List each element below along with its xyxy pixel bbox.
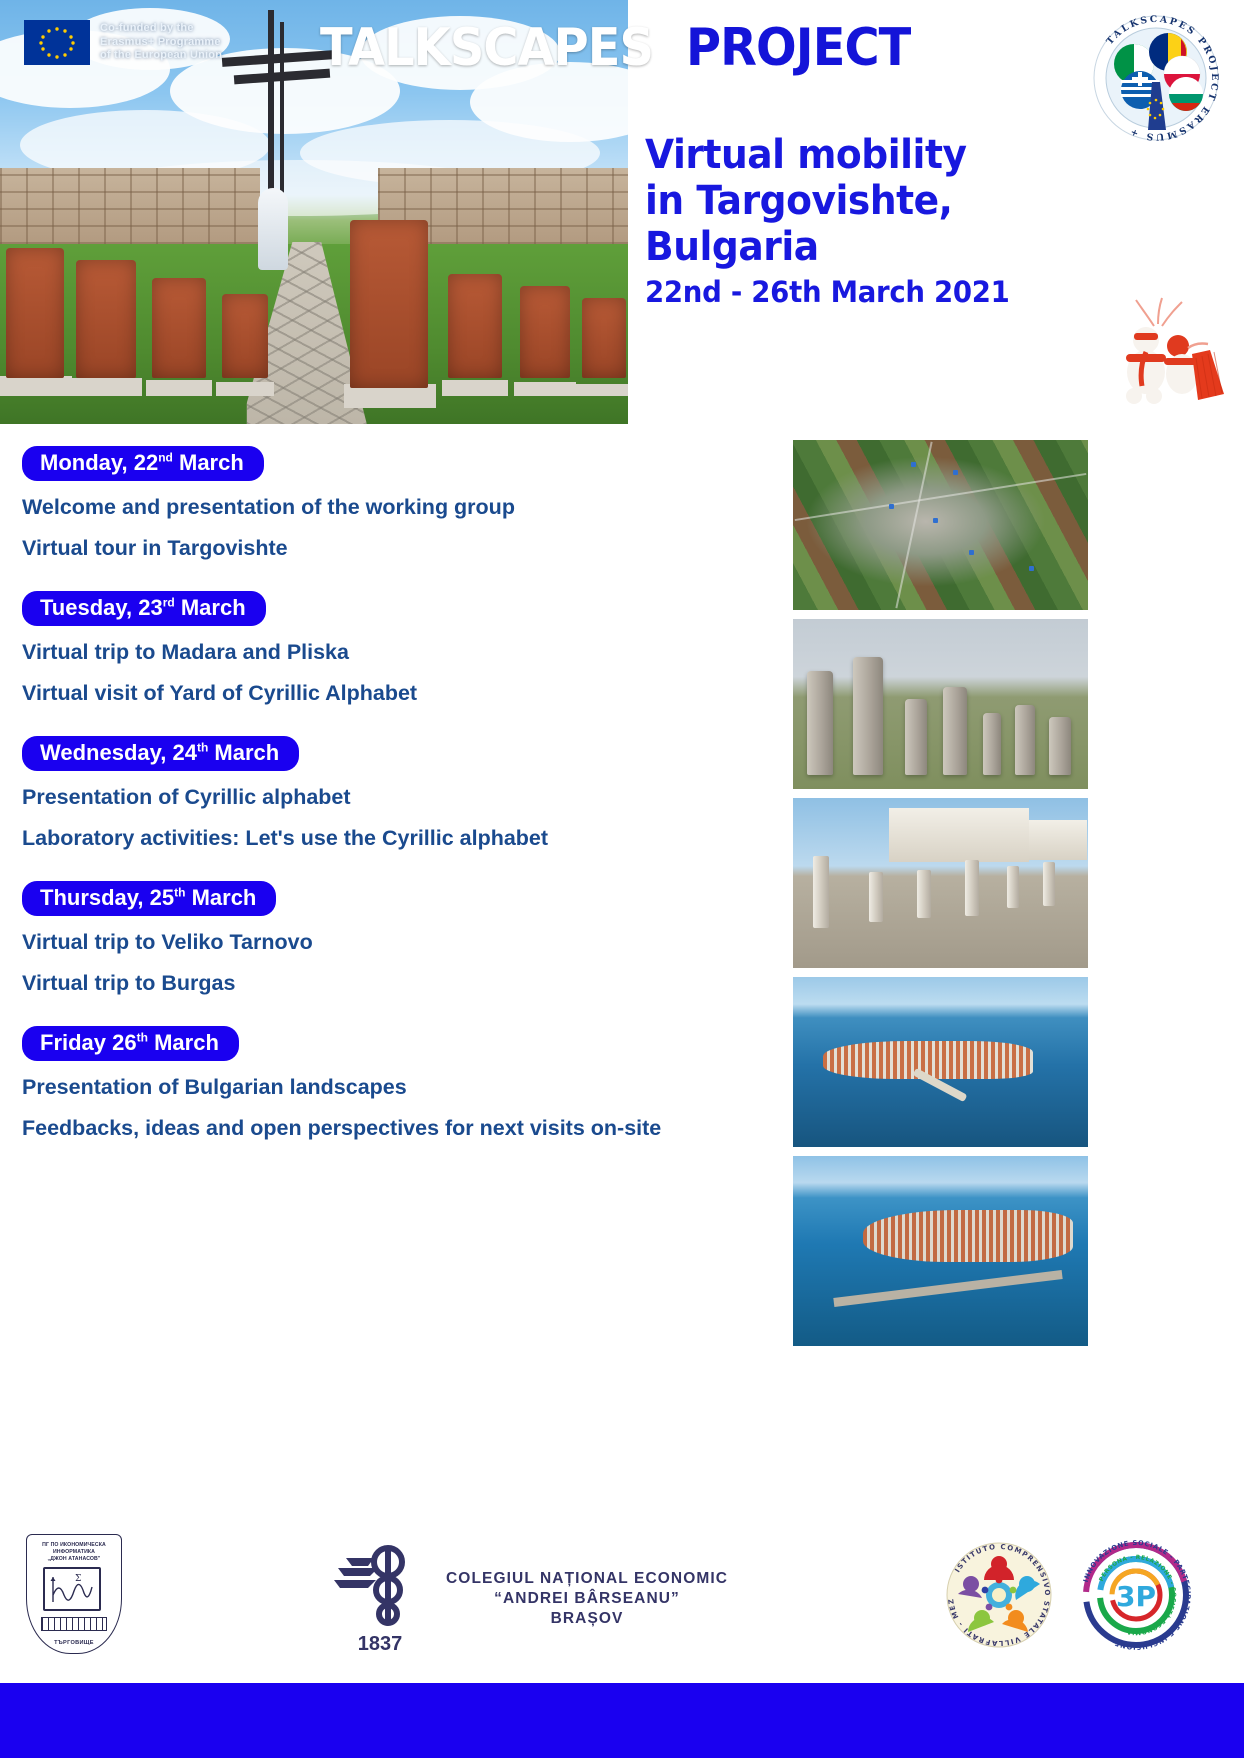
bottom-color-bar bbox=[0, 1683, 1244, 1758]
talkscapes-project-erasmus-logo: TALKSCAPES PROJECT ERASMUS + bbox=[1086, 8, 1226, 148]
tre-p-innovazione-sociale-logo: 3P INNOVAZIONE SOCIALE - PARTECIPAZIONE … bbox=[1076, 1536, 1196, 1659]
day-items-wednesday: Presentation of Cyrillic alphabet Labora… bbox=[22, 787, 790, 849]
day-pill-friday[interactable]: Friday 26th March bbox=[22, 1026, 239, 1061]
day-block-tuesday: Tuesday, 23rd March Virtual trip to Mada… bbox=[0, 591, 790, 704]
event-dates: 22nd - 26th March 2021 bbox=[645, 272, 1010, 312]
poster-header: Co-funded by the Erasmus+ Programme of t… bbox=[0, 0, 1244, 424]
day-ordinal-tuesday: rd bbox=[163, 596, 175, 610]
crest-line-1: ПГ ПО ИКОНОМИЧЕСКА bbox=[27, 1542, 121, 1549]
heading-line-3: Bulgaria bbox=[645, 224, 1006, 270]
aerial-satellite-view-targovishte bbox=[793, 440, 1088, 610]
poster-title: TALKSCAPES PROJECT bbox=[320, 18, 930, 78]
svg-text:3P: 3P bbox=[1116, 1580, 1156, 1613]
colegiul-national-economic-logo: 1837 COLEGIUL NAȚIONAL ECONOMIC “ANDREI … bbox=[330, 1542, 728, 1656]
day-block-wednesday: Wednesday, 24th March Presentation of Cy… bbox=[0, 736, 790, 849]
day-pill-monday[interactable]: Monday, 22nd March bbox=[22, 446, 264, 481]
list-item: Virtual trip to Madara and Pliska bbox=[22, 642, 790, 664]
day-number-friday: 26 bbox=[112, 1030, 136, 1055]
title-talkscapes: TALKSCAPES bbox=[320, 18, 653, 78]
crest-line-3: „ДЖОН АТАНАСОВ" bbox=[27, 1556, 121, 1563]
day-items-friday: Presentation of Bulgarian landscapes Fee… bbox=[22, 1077, 790, 1139]
list-item: Virtual visit of Yard of Cyrillic Alphab… bbox=[22, 683, 790, 705]
crest-line-2: ИНФОРМАТИКА bbox=[27, 1549, 121, 1556]
day-items-thursday: Virtual trip to Veliko Tarnovo Virtual t… bbox=[22, 932, 790, 994]
day-block-friday: Friday 26th March Presentation of Bulgar… bbox=[0, 1026, 790, 1139]
day-number-monday: 22 bbox=[134, 450, 158, 475]
day-items-tuesday: Virtual trip to Madara and Pliska Virtua… bbox=[22, 642, 790, 704]
event-heading: Virtual mobility in Targovishte, Bulgari… bbox=[645, 132, 1029, 312]
ro-line-2: “ANDREI BÂRSEANU” bbox=[446, 1589, 728, 1609]
ro-line-1: COLEGIUL NAȚIONAL ECONOMIC bbox=[446, 1570, 728, 1587]
eu-flag-icon bbox=[24, 20, 90, 65]
day-month-thursday: March bbox=[192, 885, 257, 910]
pliska-ruins-columns bbox=[793, 798, 1088, 968]
martisor-decoration-icon bbox=[1106, 292, 1236, 412]
list-item: Virtual trip to Veliko Tarnovo bbox=[22, 932, 790, 954]
day-block-thursday: Thursday, 25th March Virtual trip to Vel… bbox=[0, 881, 790, 994]
day-ordinal-wednesday: th bbox=[197, 741, 208, 755]
eu-text-line-2: Erasmus+ Programme bbox=[100, 36, 222, 50]
crest-city-label: ТЪРГОВИЩЕ bbox=[27, 1640, 121, 1646]
computer-monitor-icon: Σ bbox=[43, 1567, 101, 1611]
poster-footer: ПГ ПО ИКОНОМИЧЕСКА ИНФОРМАТИКА „ДЖОН АТА… bbox=[0, 1522, 1244, 1682]
day-ordinal-monday: nd bbox=[158, 451, 173, 465]
day-month-wednesday: March bbox=[214, 740, 279, 765]
stone-forest-pobiti-kamani bbox=[793, 619, 1088, 789]
day-number-tuesday: 23 bbox=[138, 595, 162, 620]
list-item: Virtual trip to Burgas bbox=[22, 973, 790, 995]
day-number-wednesday: 24 bbox=[172, 740, 196, 765]
list-item: Welcome and presentation of the working … bbox=[22, 497, 790, 519]
list-item: Feedbacks, ideas and open perspectives f… bbox=[22, 1118, 790, 1140]
heading-line-2: in Targovishte, bbox=[645, 178, 1006, 224]
svg-text:Σ: Σ bbox=[75, 1574, 81, 1584]
day-pill-tuesday[interactable]: Tuesday, 23rd March bbox=[22, 591, 266, 626]
day-ordinal-thursday: th bbox=[174, 886, 185, 900]
schedule-list: Monday, 22nd March Welcome and presentat… bbox=[0, 424, 790, 1158]
day-name-tuesday: Tuesday, bbox=[40, 595, 132, 620]
list-item: Virtual tour in Targovishte bbox=[22, 538, 790, 560]
list-item: Presentation of Bulgarian landscapes bbox=[22, 1077, 790, 1099]
keyboard-icon bbox=[41, 1617, 107, 1631]
day-name-thursday: Thursday, bbox=[40, 885, 144, 910]
caduceus-icon bbox=[330, 1542, 430, 1639]
day-name-monday: Monday, bbox=[40, 450, 128, 475]
day-month-tuesday: March bbox=[181, 595, 246, 620]
day-number-thursday: 25 bbox=[150, 885, 174, 910]
aerial-nessebar-peninsula bbox=[793, 1156, 1088, 1346]
day-ordinal-friday: th bbox=[137, 1031, 148, 1045]
romanian-school-name: COLEGIUL NAȚIONAL ECONOMIC “ANDREI BÂRSE… bbox=[446, 1569, 728, 1629]
istituto-comprensivo-villafrati-mezzojuso-logo: ISTITUTO COMPRENSIVO STATALE VILLAFRATI … bbox=[940, 1536, 1058, 1659]
title-project: PROJECT bbox=[686, 18, 910, 78]
list-item: Presentation of Cyrillic alphabet bbox=[22, 787, 790, 809]
day-month-monday: March bbox=[179, 450, 244, 475]
day-pill-wednesday[interactable]: Wednesday, 24th March bbox=[22, 736, 299, 771]
photo-column bbox=[793, 440, 1088, 1355]
ro-line-3: BRAȘOV bbox=[446, 1609, 728, 1629]
day-name-wednesday: Wednesday, bbox=[40, 740, 166, 765]
day-name-friday: Friday bbox=[40, 1030, 106, 1055]
erasmus-funding-text: Co-funded by the Erasmus+ Programme of t… bbox=[100, 22, 222, 63]
day-items-monday: Welcome and presentation of the working … bbox=[22, 497, 790, 559]
eu-text-line-3: of the European Union bbox=[100, 49, 222, 63]
aerial-seaside-town-coast bbox=[793, 977, 1088, 1147]
day-pill-thursday[interactable]: Thursday, 25th March bbox=[22, 881, 276, 916]
eu-text-line-1: Co-funded by the bbox=[100, 22, 222, 36]
list-item: Laboratory activities: Let's use the Cyr… bbox=[22, 828, 790, 850]
erasmus-eu-banner: Co-funded by the Erasmus+ Programme of t… bbox=[24, 20, 222, 65]
day-month-friday: March bbox=[154, 1030, 219, 1055]
bulgarian-school-crest: ПГ ПО ИКОНОМИЧЕСКА ИНФОРМАТИКА „ДЖОН АТА… bbox=[26, 1534, 122, 1654]
day-block-monday: Monday, 22nd March Welcome and presentat… bbox=[0, 446, 790, 559]
heading-line-1: Virtual mobility bbox=[645, 132, 1006, 178]
